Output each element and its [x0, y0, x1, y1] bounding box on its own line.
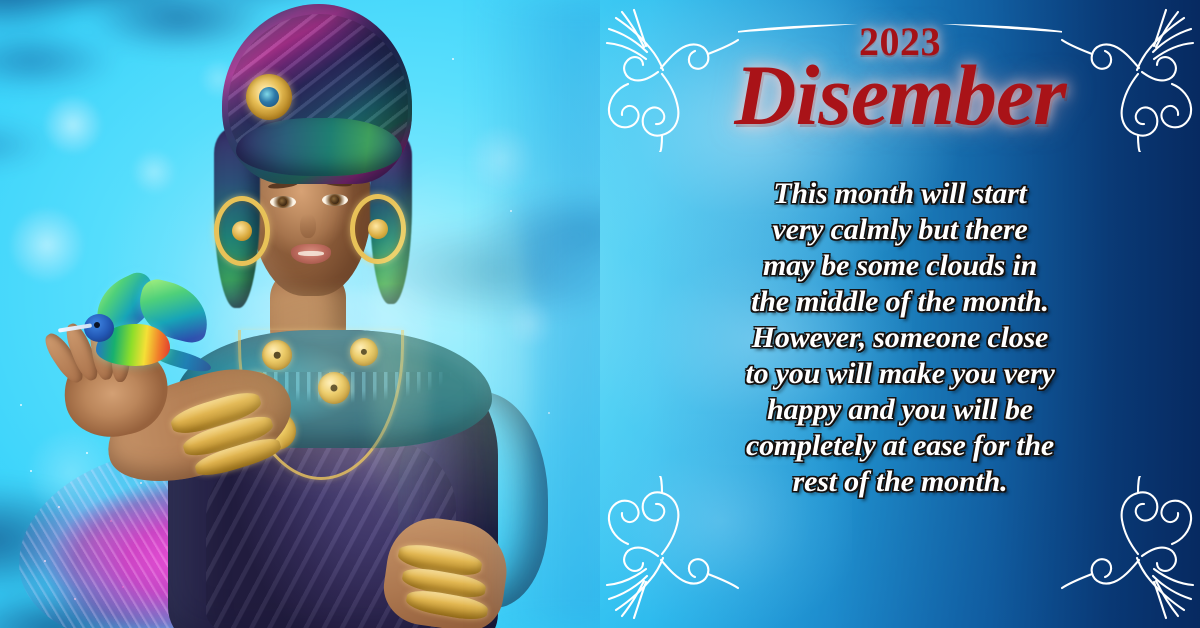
horoscope-text: This month will startvery calmly but the…	[638, 176, 1162, 500]
eye-left	[270, 196, 296, 208]
scene-panel-blend	[480, 0, 600, 628]
hummingbird-eye	[94, 322, 100, 328]
month-title: Disember	[600, 52, 1200, 138]
horoscope-line: completely at ease for the	[638, 428, 1162, 464]
horoscope-line: However, someone close	[638, 320, 1162, 356]
horoscope-line: may be some clouds in	[638, 248, 1162, 284]
earring-left	[214, 196, 270, 266]
nose	[300, 214, 316, 238]
gold-brooch	[246, 74, 292, 120]
turban-band	[236, 118, 402, 176]
horoscope-line: happy and you will be	[638, 392, 1162, 428]
horoscope-line: very calmly but there	[638, 212, 1162, 248]
illustration-scene	[0, 0, 600, 628]
eye-right	[322, 194, 348, 206]
horoscope-line: the middle of the month.	[638, 284, 1162, 320]
rainbow-hummingbird	[52, 278, 202, 398]
horoscope-line: rest of the month.	[638, 464, 1162, 500]
gold-rim-light	[190, 290, 430, 490]
horoscope-line: This month will start	[638, 176, 1162, 212]
text-panel: 2023 Disember This month will startvery …	[600, 0, 1200, 628]
hummingbird-head	[84, 314, 114, 342]
december-horoscope-card: 2023 Disember This month will startvery …	[0, 0, 1200, 628]
horoscope-line: to you will make you very	[638, 356, 1162, 392]
